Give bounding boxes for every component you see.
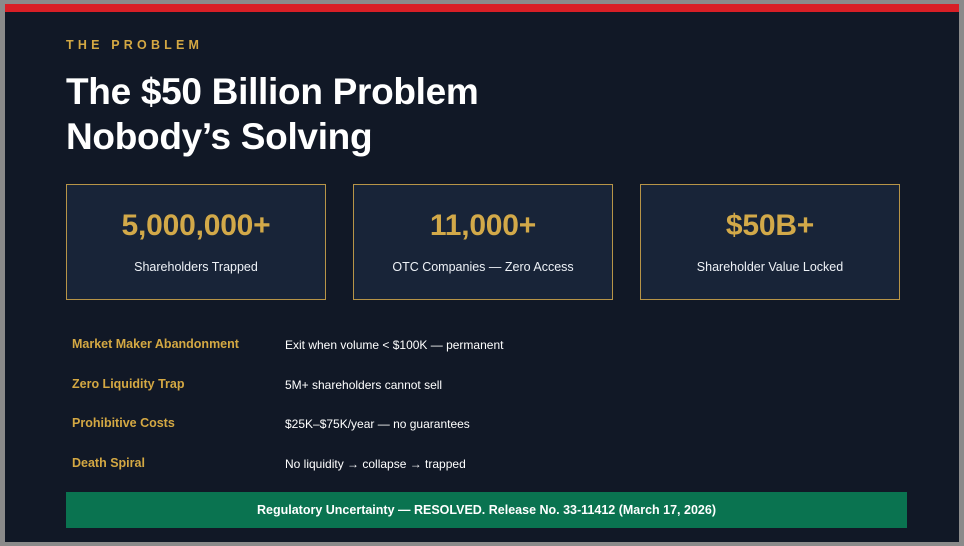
stat-value: 5,000,000+ (122, 209, 271, 243)
problem-row: Death Spiral No liquidity → collapse → t… (66, 453, 900, 493)
stat-card-shareholder-value-locked: $50B+ Shareholder Value Locked (640, 184, 900, 300)
page-title: The $50 Billion Problem Nobody’s Solving (66, 69, 906, 159)
status-banner: Regulatory Uncertainty — RESOLVED. Relea… (66, 492, 907, 528)
headline-line-2: Nobody’s Solving (66, 114, 906, 159)
headline-line-1: The $50 Billion Problem (66, 69, 906, 114)
stat-card-row: 5,000,000+ Shareholders Trapped 11,000+ … (66, 184, 900, 300)
slide-body: THE PROBLEM The $50 Billion Problem Nobo… (5, 12, 959, 542)
stat-value: 11,000+ (430, 209, 536, 243)
stat-card-shareholders-trapped: 5,000,000+ Shareholders Trapped (66, 184, 326, 300)
slide-frame: THE PROBLEM The $50 Billion Problem Nobo… (5, 4, 959, 542)
problem-description: No liquidity → collapse → trapped (285, 457, 466, 471)
problem-term: Death Spiral (72, 456, 145, 470)
problem-term: Zero Liquidity Trap (72, 377, 185, 391)
problem-description: 5M+ shareholders cannot sell (285, 378, 442, 392)
problem-row: Zero Liquidity Trap 5M+ shareholders can… (66, 374, 900, 414)
top-accent-bar (5, 4, 959, 12)
stat-label: Shareholder Value Locked (697, 259, 843, 275)
problem-description: $25K–$75K/year — no guarantees (285, 417, 470, 431)
status-banner-text: Regulatory Uncertainty — RESOLVED. Relea… (257, 503, 716, 517)
stat-value: $50B+ (726, 209, 814, 243)
problem-description: Exit when volume < $100K — permanent (285, 338, 503, 352)
stat-card-otc-companies: 11,000+ OTC Companies — Zero Access (353, 184, 613, 300)
stat-label: OTC Companies — Zero Access (392, 259, 573, 275)
problem-term: Prohibitive Costs (72, 416, 175, 430)
problem-term: Market Maker Abandonment (72, 337, 239, 351)
stat-label: Shareholders Trapped (134, 259, 258, 275)
problem-row: Market Maker Abandonment Exit when volum… (66, 334, 900, 374)
eyebrow-label: THE PROBLEM (66, 38, 203, 52)
problem-row: Prohibitive Costs $25K–$75K/year — no gu… (66, 413, 900, 453)
problem-list: Market Maker Abandonment Exit when volum… (66, 334, 900, 492)
